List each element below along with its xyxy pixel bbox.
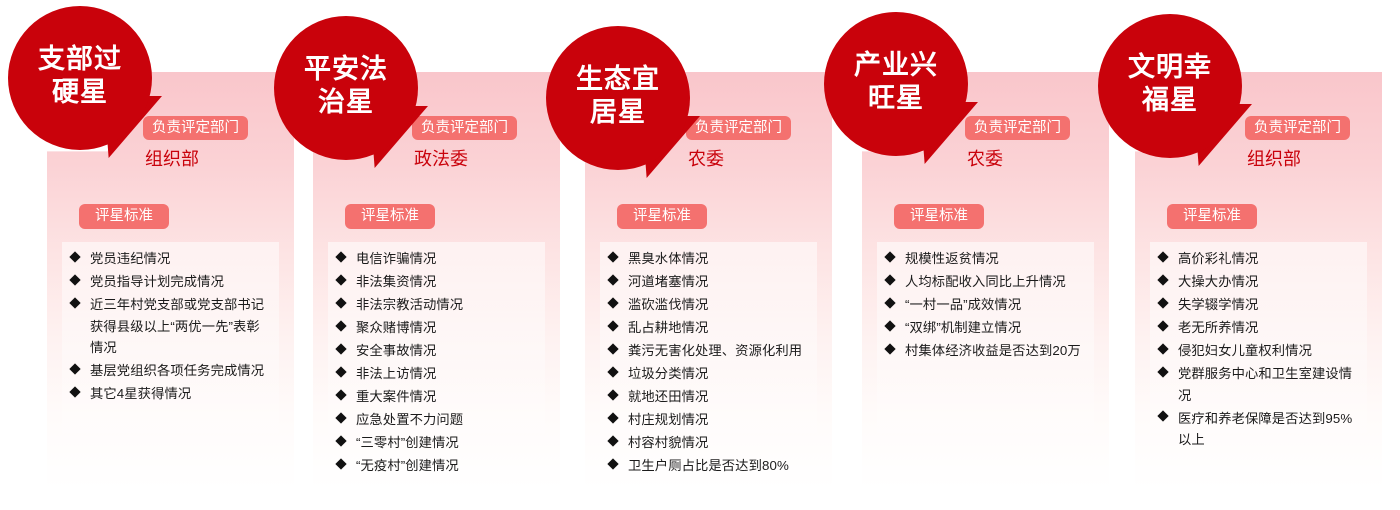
criteria-panel: 党员违纪情况党员指导计划完成情况近三年村党支部或党支部书记获得县级以上“两优一先… — [62, 242, 279, 490]
criteria-text: 失学辍学情况 — [1178, 297, 1258, 312]
diamond-bullet-icon — [607, 297, 618, 308]
diamond-bullet-icon — [607, 412, 618, 423]
criteria-panel: 规模性返贫情况人均标配收入同比上升情况“一村一品”成效情况“双绑”机制建立情况村… — [877, 242, 1094, 490]
criteria-text: 近三年村党支部或党支部书记获得县级以上“两优一先”表彰情况 — [90, 297, 264, 355]
criteria-list-item: 黑臭水体情况 — [606, 248, 811, 270]
diamond-bullet-icon — [335, 320, 346, 331]
diamond-bullet-icon — [335, 435, 346, 446]
criteria-list: 高价彩礼情况大操大办情况失学辍学情况老无所养情况侵犯妇女儿童权利情况党群服务中心… — [1156, 248, 1361, 451]
dept-label-badge: 负责评定部门 — [143, 116, 248, 140]
criteria-list-item: 基层党组织各项任务完成情况 — [68, 360, 273, 382]
criteria-text: 村容村貌情况 — [628, 435, 708, 450]
criteria-label-badge: 评星标准 — [617, 204, 707, 229]
criteria-text: 规模性返贫情况 — [905, 251, 999, 266]
star-balloon-4 — [824, 12, 968, 156]
criteria-list-item: 其它4星获得情况 — [68, 383, 273, 405]
criteria-text: 安全事故情况 — [356, 343, 436, 358]
diamond-bullet-icon — [607, 389, 618, 400]
criteria-text: 就地还田情况 — [628, 389, 708, 404]
criteria-list-item: 滥砍滥伐情况 — [606, 294, 811, 316]
criteria-list-item: “一村一品”成效情况 — [883, 294, 1088, 316]
criteria-list-item: 非法集资情况 — [334, 271, 539, 293]
criteria-text: “一村一品”成效情况 — [905, 297, 1021, 312]
criteria-list-item: 人均标配收入同比上升情况 — [883, 271, 1088, 293]
diamond-bullet-icon — [1157, 320, 1168, 331]
criteria-label-badge: 评星标准 — [79, 204, 169, 229]
criteria-text: 滥砍滥伐情况 — [628, 297, 708, 312]
star-balloon-3 — [546, 26, 690, 170]
criteria-list-item: 应急处置不力问题 — [334, 409, 539, 431]
criteria-list: 党员违纪情况党员指导计划完成情况近三年村党支部或党支部书记获得县级以上“两优一先… — [68, 248, 273, 405]
criteria-text: 高价彩礼情况 — [1178, 251, 1258, 266]
criteria-text: 大操大办情况 — [1178, 274, 1258, 289]
criteria-text: 应急处置不力问题 — [356, 412, 463, 427]
criteria-list-item: 失学辍学情况 — [1156, 294, 1361, 316]
dept-label-badge: 负责评定部门 — [412, 116, 517, 140]
criteria-text: 非法上访情况 — [356, 366, 436, 381]
criteria-list-item: 河道堵塞情况 — [606, 271, 811, 293]
diamond-bullet-icon — [335, 297, 346, 308]
criteria-text: 党员指导计划完成情况 — [90, 274, 224, 289]
diamond-bullet-icon — [335, 274, 346, 285]
criteria-label-badge: 评星标准 — [1167, 204, 1257, 229]
criteria-list-item: 重大案件情况 — [334, 386, 539, 408]
dept-label-badge: 负责评定部门 — [965, 116, 1070, 140]
criteria-list-item: 卫生户厕占比是否达到80% — [606, 455, 811, 477]
criteria-text: 村集体经济收益是否达到20万 — [905, 343, 1081, 358]
criteria-list-item: 高价彩礼情况 — [1156, 248, 1361, 270]
diamond-bullet-icon — [607, 251, 618, 262]
criteria-label-badge: 评星标准 — [894, 204, 984, 229]
criteria-text: “三零村”创建情况 — [356, 435, 459, 450]
diamond-bullet-icon — [69, 297, 80, 308]
diamond-bullet-icon — [884, 343, 895, 354]
diamond-bullet-icon — [1157, 343, 1168, 354]
criteria-list-item: “无疫村”创建情况 — [334, 455, 539, 477]
star-balloon-1 — [8, 6, 152, 150]
criteria-text: 基层党组织各项任务完成情况 — [90, 363, 264, 378]
criteria-text: 非法宗教活动情况 — [356, 297, 463, 312]
diamond-bullet-icon — [884, 251, 895, 262]
dept-name: 农委 — [688, 148, 724, 170]
criteria-list-item: 规模性返贫情况 — [883, 248, 1088, 270]
criteria-text: 电信诈骗情况 — [356, 251, 436, 266]
criteria-text: 粪污无害化处理、资源化利用 — [628, 343, 802, 358]
criteria-list-item: 垃圾分类情况 — [606, 363, 811, 385]
criteria-text: 非法集资情况 — [356, 274, 436, 289]
criteria-list-item: 村容村貌情况 — [606, 432, 811, 454]
diamond-bullet-icon — [607, 274, 618, 285]
criteria-text: 村庄规划情况 — [628, 412, 708, 427]
criteria-text: 河道堵塞情况 — [628, 274, 708, 289]
diamond-bullet-icon — [607, 343, 618, 354]
diamond-bullet-icon — [1157, 297, 1168, 308]
criteria-text: 老无所养情况 — [1178, 320, 1258, 335]
criteria-panel: 黑臭水体情况河道堵塞情况滥砍滥伐情况乱占耕地情况粪污无害化处理、资源化利用垃圾分… — [600, 242, 817, 490]
criteria-panel: 电信诈骗情况非法集资情况非法宗教活动情况聚众赌博情况安全事故情况非法上访情况重大… — [328, 242, 545, 490]
criteria-list: 电信诈骗情况非法集资情况非法宗教活动情况聚众赌博情况安全事故情况非法上访情况重大… — [334, 248, 539, 477]
criteria-list-item: 就地还田情况 — [606, 386, 811, 408]
diamond-bullet-icon — [69, 274, 80, 285]
criteria-list-item: 乱占耕地情况 — [606, 317, 811, 339]
diamond-bullet-icon — [335, 251, 346, 262]
star-balloon-2 — [274, 16, 418, 160]
criteria-list-item: 党员指导计划完成情况 — [68, 271, 273, 293]
diamond-bullet-icon — [884, 274, 895, 285]
diamond-bullet-icon — [1157, 274, 1168, 285]
diamond-bullet-icon — [1157, 410, 1168, 421]
criteria-list-item: 非法上访情况 — [334, 363, 539, 385]
diamond-bullet-icon — [69, 251, 80, 262]
criteria-list-item: 聚众赌博情况 — [334, 317, 539, 339]
diamond-bullet-icon — [335, 343, 346, 354]
criteria-text: 党群服务中心和卫生室建设情况 — [1178, 366, 1352, 403]
diamond-bullet-icon — [607, 435, 618, 446]
criteria-list-item: 老无所养情况 — [1156, 317, 1361, 339]
dept-name: 政法委 — [414, 148, 468, 170]
diamond-bullet-icon — [335, 389, 346, 400]
diamond-bullet-icon — [607, 320, 618, 331]
diamond-bullet-icon — [607, 458, 618, 469]
criteria-list-item: 党员违纪情况 — [68, 248, 273, 270]
criteria-list-item: 近三年村党支部或党支部书记获得县级以上“两优一先”表彰情况 — [68, 294, 273, 359]
criteria-text: 卫生户厕占比是否达到80% — [628, 458, 789, 473]
diamond-bullet-icon — [884, 320, 895, 331]
criteria-text: 党员违纪情况 — [90, 251, 170, 266]
criteria-text: 侵犯妇女儿童权利情况 — [1178, 343, 1312, 358]
criteria-panel: 高价彩礼情况大操大办情况失学辍学情况老无所养情况侵犯妇女儿童权利情况党群服务中心… — [1150, 242, 1367, 490]
five-star-criteria-infographic: 负责评定部门组织部评星标准党员违纪情况党员指导计划完成情况近三年村党支部或党支部… — [0, 0, 1400, 510]
diamond-bullet-icon — [69, 363, 80, 374]
criteria-text: 重大案件情况 — [356, 389, 436, 404]
criteria-list-item: 侵犯妇女儿童权利情况 — [1156, 340, 1361, 362]
criteria-list: 规模性返贫情况人均标配收入同比上升情况“一村一品”成效情况“双绑”机制建立情况村… — [883, 248, 1088, 362]
criteria-list-item: 安全事故情况 — [334, 340, 539, 362]
criteria-list-item: 大操大办情况 — [1156, 271, 1361, 293]
criteria-list: 黑臭水体情况河道堵塞情况滥砍滥伐情况乱占耕地情况粪污无害化处理、资源化利用垃圾分… — [606, 248, 811, 477]
dept-name: 农委 — [967, 148, 1003, 170]
criteria-list-item: 非法宗教活动情况 — [334, 294, 539, 316]
criteria-list-item: “三零村”创建情况 — [334, 432, 539, 454]
diamond-bullet-icon — [1157, 366, 1168, 377]
criteria-text: “无疫村”创建情况 — [356, 458, 459, 473]
dept-name: 组织部 — [145, 148, 199, 170]
diamond-bullet-icon — [335, 458, 346, 469]
diamond-bullet-icon — [884, 297, 895, 308]
criteria-text: 乱占耕地情况 — [628, 320, 708, 335]
criteria-text: 垃圾分类情况 — [628, 366, 708, 381]
criteria-list-item: 粪污无害化处理、资源化利用 — [606, 340, 811, 362]
criteria-label-badge: 评星标准 — [345, 204, 435, 229]
criteria-list-item: 村集体经济收益是否达到20万 — [883, 340, 1088, 362]
criteria-list-item: “双绑”机制建立情况 — [883, 317, 1088, 339]
dept-name: 组织部 — [1247, 148, 1301, 170]
criteria-list-item: 党群服务中心和卫生室建设情况 — [1156, 363, 1361, 406]
criteria-text: “双绑”机制建立情况 — [905, 320, 1021, 335]
diamond-bullet-icon — [335, 412, 346, 423]
criteria-list-item: 医疗和养老保障是否达到95%以上 — [1156, 408, 1361, 451]
diamond-bullet-icon — [335, 366, 346, 377]
criteria-list-item: 村庄规划情况 — [606, 409, 811, 431]
criteria-text: 聚众赌博情况 — [356, 320, 436, 335]
dept-label-badge: 负责评定部门 — [686, 116, 791, 140]
criteria-text: 人均标配收入同比上升情况 — [905, 274, 1066, 289]
criteria-list-item: 电信诈骗情况 — [334, 248, 539, 270]
star-balloon-5 — [1098, 14, 1242, 158]
dept-label-badge: 负责评定部门 — [1245, 116, 1350, 140]
diamond-bullet-icon — [607, 366, 618, 377]
criteria-text: 黑臭水体情况 — [628, 251, 708, 266]
criteria-text: 医疗和养老保障是否达到95%以上 — [1178, 411, 1352, 448]
criteria-text: 其它4星获得情况 — [90, 386, 191, 401]
diamond-bullet-icon — [1157, 251, 1168, 262]
diamond-bullet-icon — [69, 386, 80, 397]
